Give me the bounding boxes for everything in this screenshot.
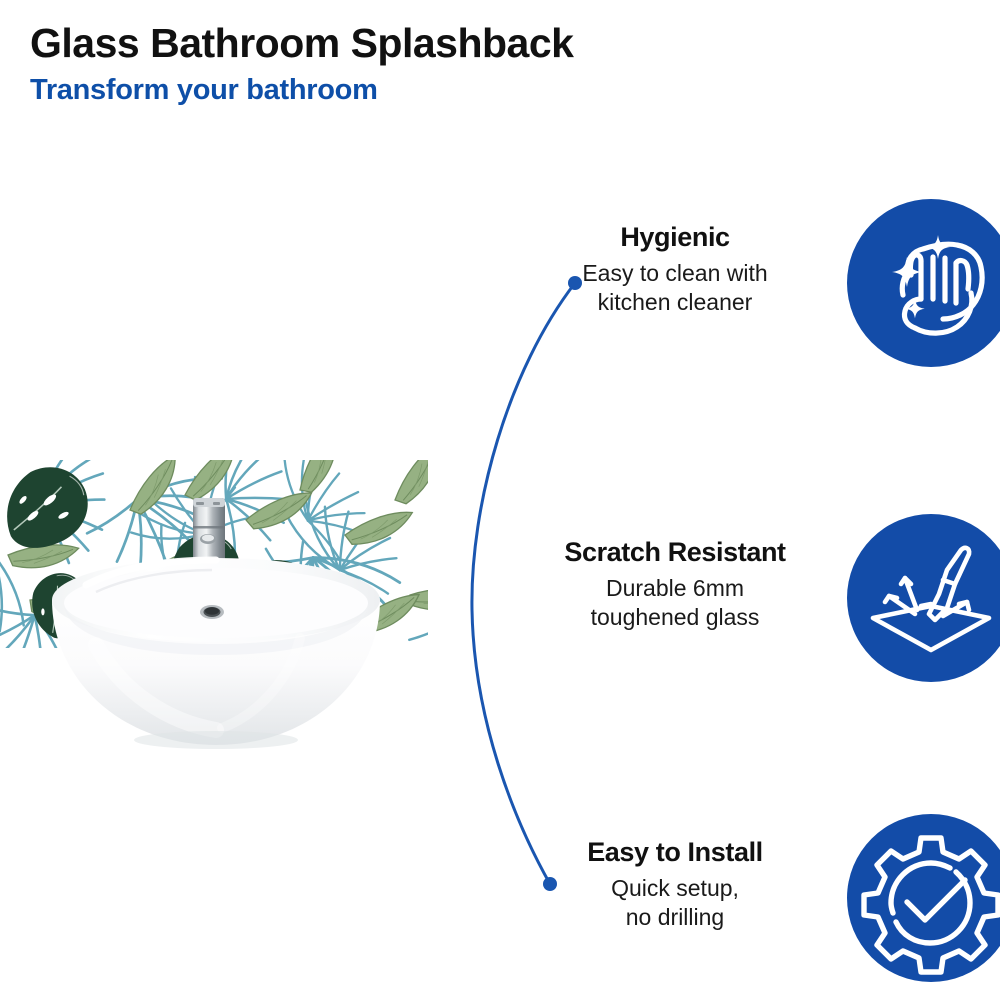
feature-desc-line1: Easy to clean with (582, 260, 767, 286)
page-subtitle: Transform your bathroom (30, 75, 830, 107)
feature-icon-wrap (843, 810, 1000, 986)
header: Glass Bathroom Splashback Transform your… (30, 22, 830, 107)
feature-text: Easy to Install Quick setup, no drilling (510, 837, 840, 933)
product-image (0, 440, 440, 770)
feature-description: Durable 6mm toughened glass (510, 574, 840, 633)
feature-description: Easy to clean with kitchen cleaner (510, 259, 840, 318)
hand-wiping-sparkle-icon (843, 195, 1000, 371)
infographic-page: Glass Bathroom Splashback Transform your… (0, 0, 1000, 1000)
gear-checkmark-icon (843, 810, 1000, 986)
feature-desc-line2: no drilling (626, 904, 724, 930)
feature-desc-line1: Durable 6mm (606, 575, 744, 601)
feature-text: Scratch Resistant Durable 6mm toughened … (510, 537, 840, 633)
feature-hygienic: Hygienic Easy to clean with kitchen clea… (500, 180, 1000, 380)
white-basin (52, 558, 380, 749)
feature-title: Hygienic (510, 222, 840, 253)
feature-easy-to-install: Easy to Install Quick setup, no drilling (500, 795, 1000, 995)
feature-title: Easy to Install (510, 837, 840, 868)
knife-on-surface-icon (843, 510, 1000, 686)
basin-and-tap (0, 440, 440, 770)
feature-icon-wrap (843, 195, 1000, 371)
feature-text: Hygienic Easy to clean with kitchen clea… (510, 222, 840, 318)
feature-scratch-resistant: Scratch Resistant Durable 6mm toughened … (500, 495, 1000, 695)
feature-desc-line2: toughened glass (591, 604, 760, 630)
feature-icon-wrap (843, 510, 1000, 686)
page-title: Glass Bathroom Splashback (30, 22, 830, 65)
feature-description: Quick setup, no drilling (510, 874, 840, 933)
feature-desc-line2: kitchen cleaner (598, 289, 753, 315)
feature-desc-line1: Quick setup, (611, 875, 739, 901)
feature-title: Scratch Resistant (510, 537, 840, 568)
